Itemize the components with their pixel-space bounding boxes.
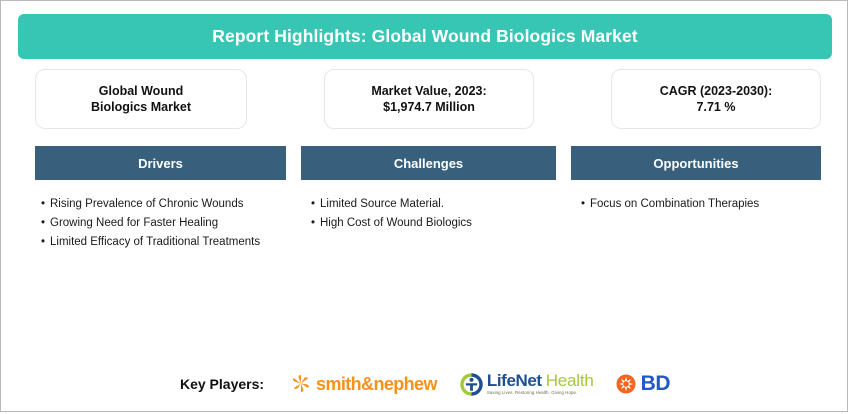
list-item: Limited Efficacy of Traditional Treatmen… (39, 233, 304, 252)
list-item: High Cost of Wound Biologics (309, 214, 564, 233)
key-players-row: Key Players: smith&nephew (1, 367, 849, 401)
market-name-card: Global Wound Biologics Market (35, 69, 247, 129)
market-value-card: Market Value, 2023: $1,974.7 Million (324, 69, 534, 129)
cagr-card: CAGR (2023-2030): 7.71 % (611, 69, 821, 129)
section-header-drivers: Drivers (35, 146, 286, 180)
section-header-drivers-label: Drivers (138, 156, 183, 171)
cagr-card-line1: CAGR (2023-2030): (660, 83, 773, 99)
lifenet-health-logo: LifeNet Health Saving Lives. Restoring H… (459, 369, 594, 399)
section-header-challenges: Challenges (301, 146, 556, 180)
smith-and-nephew-wordmark: smith&nephew (316, 374, 437, 395)
lifenet-health-words: LifeNet Health (487, 372, 594, 389)
market-name-card-line1: Global Wound (99, 83, 183, 99)
page-title: Report Highlights: Global Wound Biologic… (212, 26, 637, 47)
lifenet-word: LifeNet (487, 372, 542, 389)
market-value-card-line2: $1,974.7 Million (383, 99, 475, 115)
challenges-list: Limited Source Material. High Cost of Wo… (309, 195, 564, 233)
list-item: Limited Source Material. (309, 195, 564, 214)
section-header-challenges-label: Challenges (394, 156, 463, 171)
bd-wordmark: BD (641, 372, 670, 396)
report-highlights-infographic: Report Highlights: Global Wound Biologic… (0, 0, 848, 412)
market-value-card-line1: Market Value, 2023: (371, 83, 486, 99)
list-item: Growing Need for Faster Healing (39, 214, 304, 233)
list-item: Focus on Combination Therapies (579, 195, 829, 214)
cagr-card-line2: 7.71 % (697, 99, 736, 115)
section-header-opportunities: Opportunities (571, 146, 821, 180)
section-header-opportunities-label: Opportunities (653, 156, 738, 171)
drivers-list: Rising Prevalence of Chronic Wounds Grow… (39, 195, 304, 252)
bd-logo: BD (616, 369, 670, 399)
health-word: Health (546, 372, 594, 389)
lifenet-health-wordmark: LifeNet Health Saving Lives. Restoring H… (487, 372, 594, 395)
smith-nephew-burst-icon (290, 373, 312, 395)
opportunities-list: Focus on Combination Therapies (579, 195, 829, 214)
key-players-label: Key Players: (180, 376, 264, 392)
list-item: Rising Prevalence of Chronic Wounds (39, 195, 304, 214)
lifenet-tagline: Saving Lives. Restoring Health. Giving H… (487, 391, 577, 395)
bd-sunburst-icon (616, 374, 636, 394)
lifenet-person-circle-icon (459, 372, 484, 397)
market-name-card-line2: Biologics Market (91, 99, 191, 115)
report-banner: Report Highlights: Global Wound Biologic… (18, 14, 832, 59)
smith-and-nephew-logo: smith&nephew (290, 369, 437, 399)
